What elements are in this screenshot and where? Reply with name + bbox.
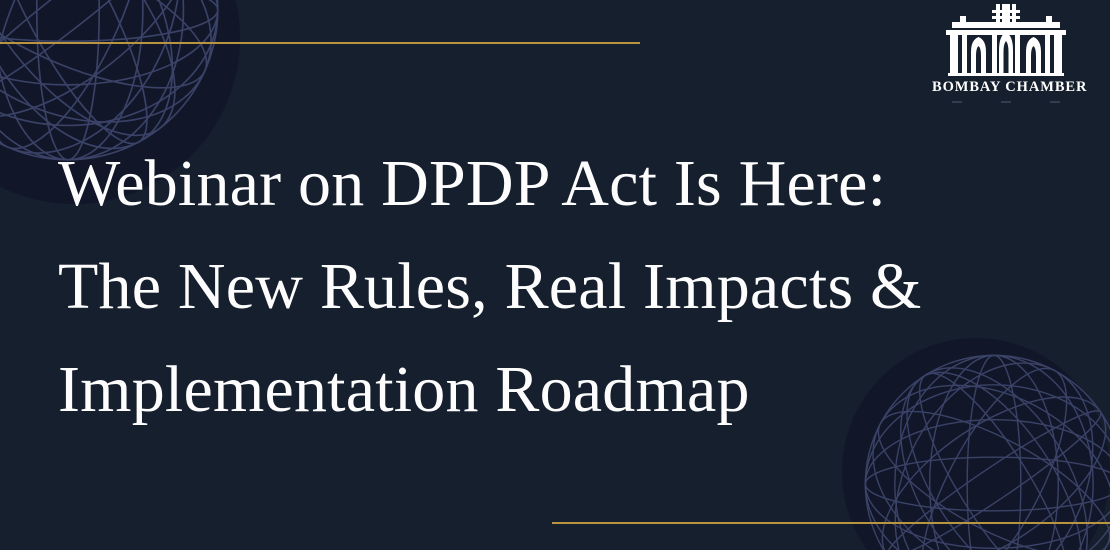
title-line-3: Implementation Roadmap: [58, 338, 1058, 441]
page-title: Webinar on DPDP Act Is Here: The New Rul…: [58, 132, 1058, 441]
gateway-of-india-arch-icon: [932, 4, 1080, 76]
title-line-1: Webinar on DPDP Act Is Here:: [58, 132, 1058, 235]
gold-rule-bottom: [552, 522, 1110, 524]
logo-underline-dots-icon: [946, 100, 1066, 104]
title-line-2: The New Rules, Real Impacts &: [58, 235, 1058, 338]
gold-rule-top: [0, 42, 640, 44]
webinar-title-slide: BOMBAY CHAMBER Webinar on DPDP Act Is He…: [0, 0, 1110, 550]
bombay-chamber-logo: BOMBAY CHAMBER: [932, 4, 1080, 104]
logo-wordmark: BOMBAY CHAMBER: [932, 79, 1080, 96]
